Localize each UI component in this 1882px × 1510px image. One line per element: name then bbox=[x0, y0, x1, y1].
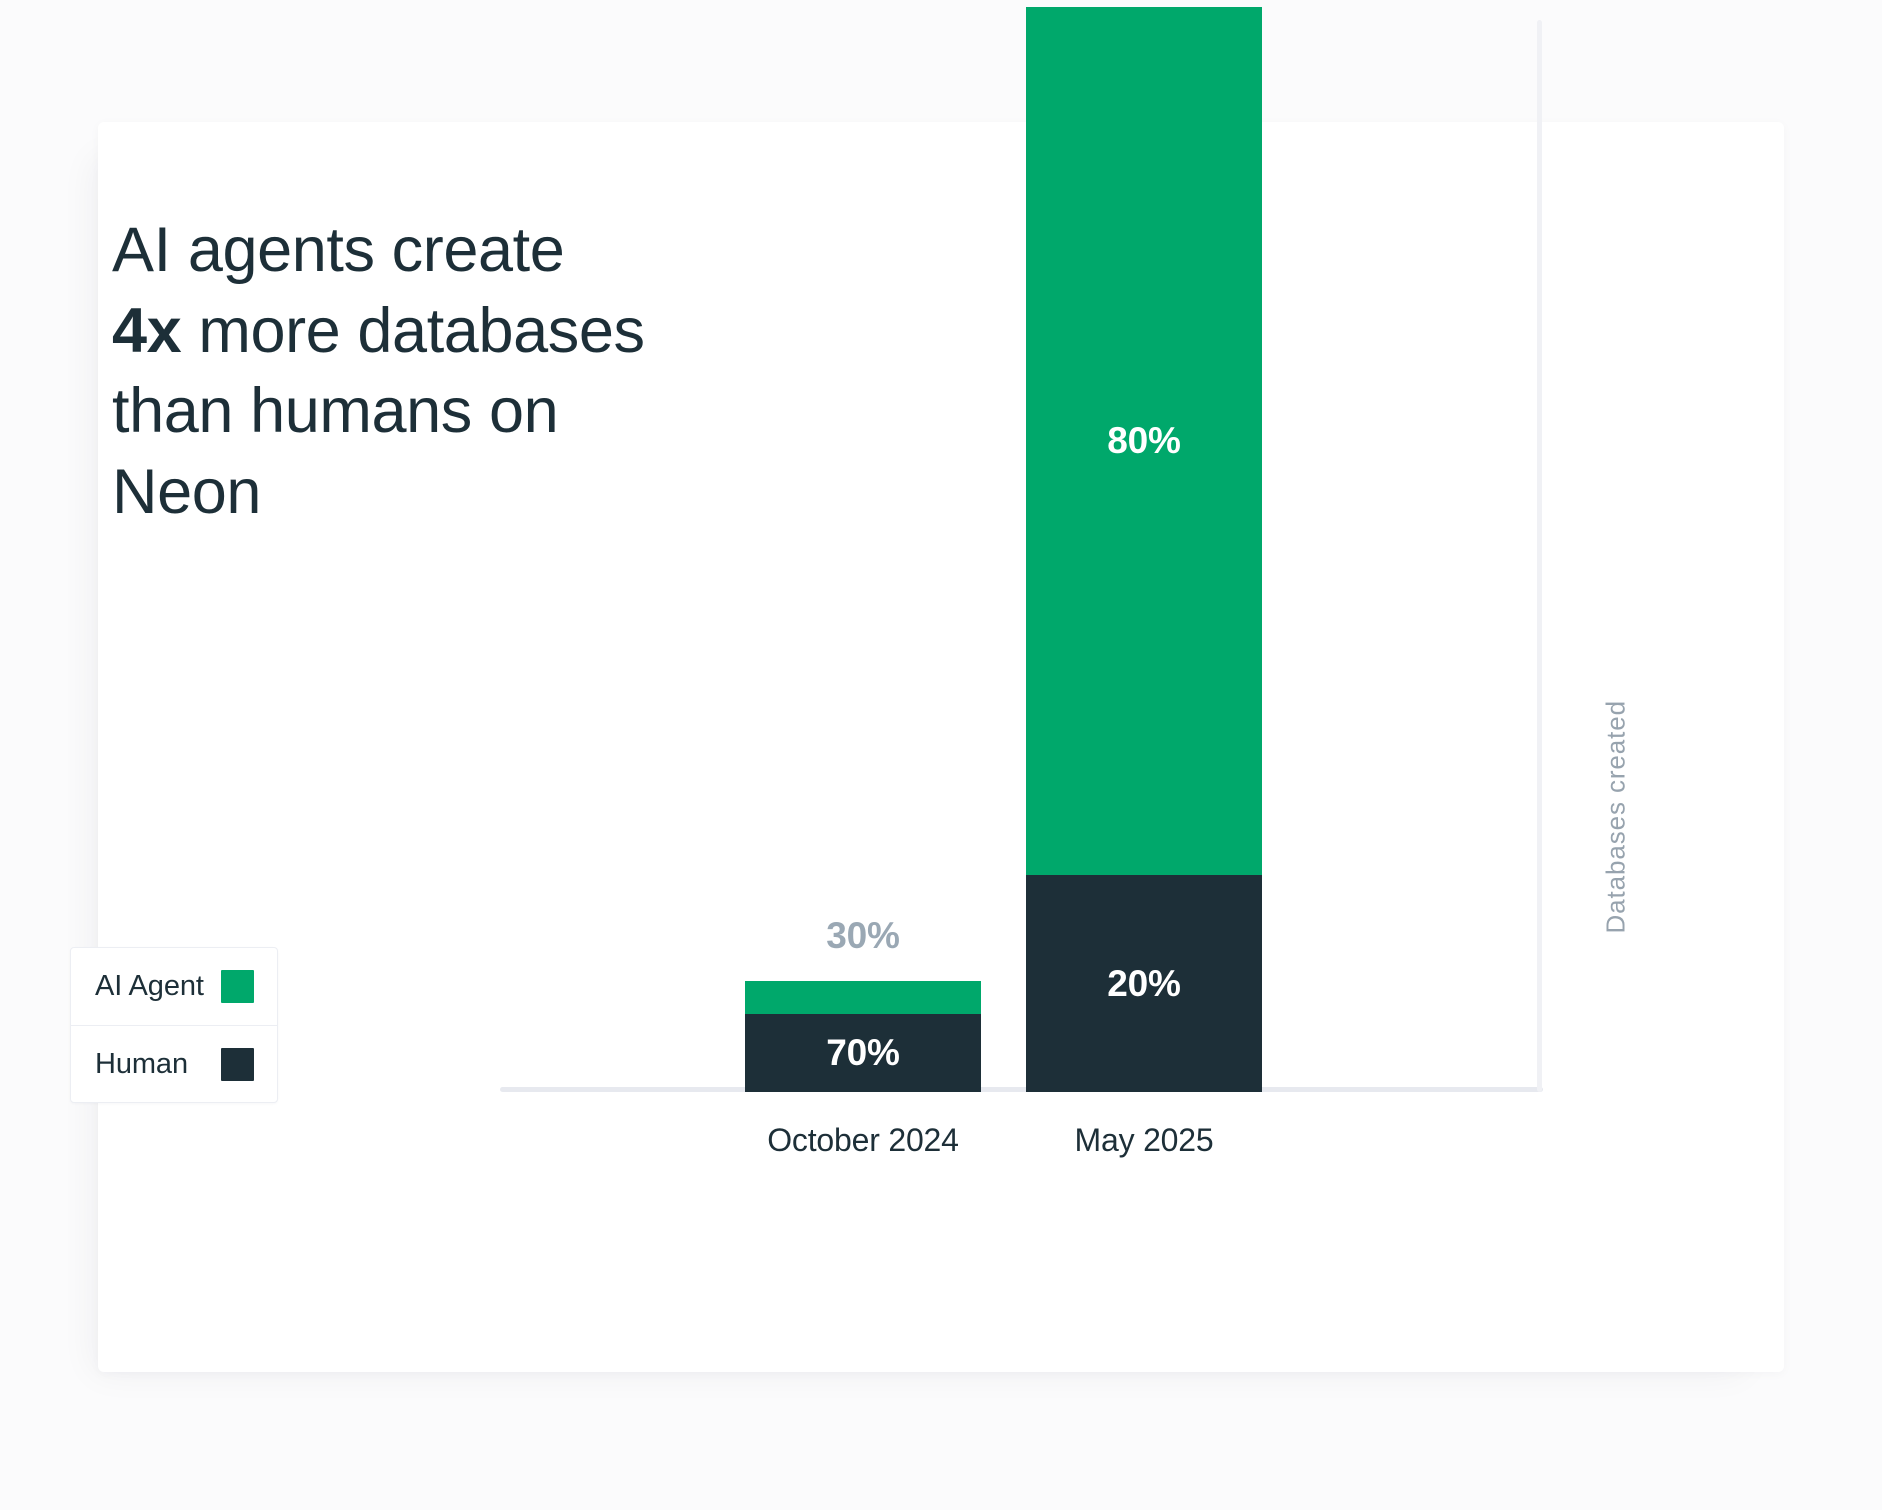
headline-emphasis-4x: 4x bbox=[112, 296, 181, 366]
legend-swatch-ai-agent bbox=[221, 970, 254, 1003]
legend-label-ai-agent: AI Agent bbox=[95, 970, 204, 1003]
legend-label-human: Human bbox=[95, 1048, 188, 1081]
x-axis-line bbox=[500, 1087, 1543, 1092]
bar-value-human: 20% bbox=[1107, 963, 1180, 1005]
bar-segment-human[interactable]: 20% bbox=[1026, 875, 1262, 1092]
bar-value-ai-agent: 80% bbox=[1107, 420, 1180, 462]
chart-legend: AI Agent Human bbox=[70, 947, 278, 1103]
x-tick-label-may-2025: May 2025 bbox=[986, 1122, 1302, 1159]
bar-value-human: 70% bbox=[826, 1032, 899, 1074]
bar-segment-ai-agent[interactable]: 30% bbox=[745, 981, 981, 1014]
legend-swatch-human bbox=[221, 1048, 254, 1081]
bar-stack-may-2025[interactable]: 80% 20% bbox=[1026, 7, 1262, 1092]
bar-segment-human[interactable]: 70% bbox=[745, 1014, 981, 1092]
legend-item-ai-agent[interactable]: AI Agent bbox=[71, 948, 277, 1025]
plot-area: Databases created 30% 70% October 2024 8… bbox=[500, 30, 1660, 1220]
bar-group-may-2025: 80% 20% May 2025 bbox=[1026, 7, 1262, 1092]
y-axis-line bbox=[1537, 20, 1542, 1092]
x-tick-label-october-2024: October 2024 bbox=[705, 1122, 1021, 1159]
bar-group-october-2024: 30% 70% October 2024 bbox=[745, 981, 981, 1092]
bar-segment-ai-agent[interactable]: 80% bbox=[1026, 7, 1262, 875]
bar-stack-october-2024[interactable]: 30% 70% bbox=[745, 981, 981, 1092]
bar-value-ai-agent: 30% bbox=[745, 915, 981, 957]
legend-item-human[interactable]: Human bbox=[71, 1025, 277, 1102]
chart-canvas: AI agents create 4x more databases than … bbox=[0, 0, 1882, 1510]
y-axis-title: Databases created bbox=[1601, 700, 1632, 934]
